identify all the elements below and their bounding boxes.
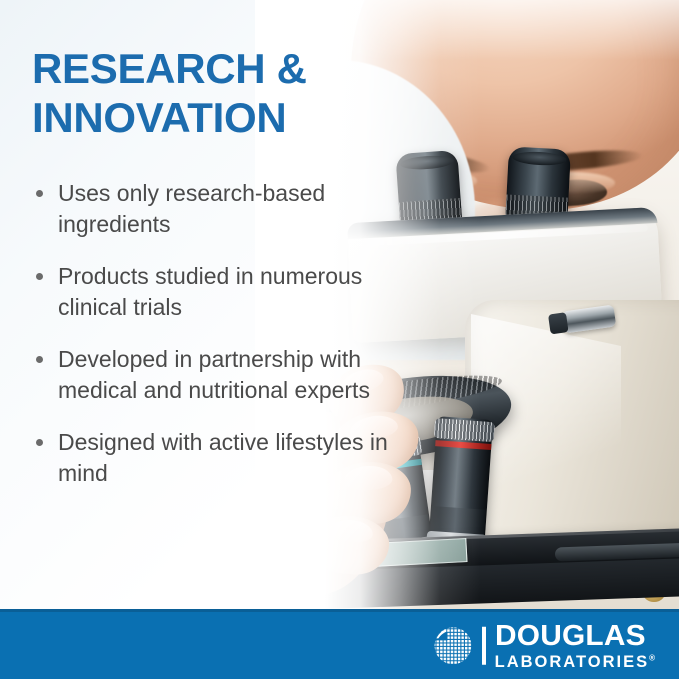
list-item: Developed in partnership with medical an… (32, 344, 392, 405)
halftone-globe-svg (433, 626, 473, 666)
bullet-text: Products studied in numerous clinical tr… (58, 263, 362, 320)
brand-subtitle-text: LABORATORIES (495, 652, 649, 670)
bullet-text: Designed with active lifestyles in mind (58, 429, 388, 486)
list-item: Uses only research-based ingredients (32, 178, 392, 239)
objective-color-band-red (435, 440, 491, 450)
list-item: Designed with active lifestyles in mind (32, 427, 392, 488)
list-item: Products studied in numerous clinical tr… (32, 261, 392, 322)
bullet-dot-icon (36, 439, 43, 446)
brand-name: DOUGLAS (495, 621, 660, 650)
headline-line-1: RESEARCH & (32, 44, 372, 93)
bullet-dot-icon (36, 356, 43, 363)
bullet-text: Uses only research-based ingredients (58, 180, 325, 237)
brand-subtitle: LABORATORIES® (495, 653, 655, 670)
promo-poster: RESEARCH & INNOVATION Uses only research… (0, 0, 679, 679)
bullet-dot-icon (36, 190, 43, 197)
feature-bullet-list: Uses only research-based ingredients Pro… (32, 178, 392, 489)
eyepiece-lens-ring (512, 151, 567, 167)
eyepiece-lens-ring (400, 154, 455, 171)
bullet-dot-icon (36, 273, 43, 280)
registered-trademark-icon: ® (649, 653, 655, 662)
logo-wordmark: DOUGLAS LABORATORIES® (495, 621, 655, 670)
logo-divider-bar (482, 627, 486, 665)
objective-chrome-collar (434, 418, 495, 442)
microscope-objective-red (429, 416, 493, 540)
fingernail (328, 519, 373, 544)
douglas-laboratories-logo: DOUGLAS LABORATORIES® (433, 621, 655, 670)
page-title: RESEARCH & INNOVATION (32, 44, 372, 142)
headline-line-2: INNOVATION (32, 93, 372, 142)
brand-footer-bar: DOUGLAS LABORATORIES® (0, 609, 679, 679)
halftone-globe-icon (433, 626, 473, 666)
focus-knob-cap (548, 312, 569, 334)
bullet-text: Developed in partnership with medical an… (58, 346, 370, 403)
